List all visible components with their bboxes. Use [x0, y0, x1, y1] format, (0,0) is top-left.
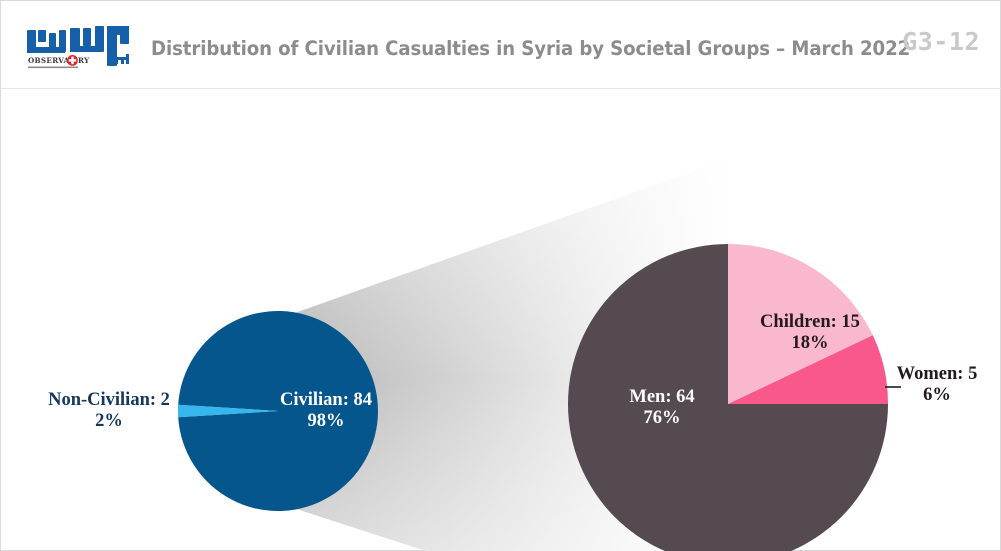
chart-canvas: OBSERVAT RY D	[0, 0, 1001, 551]
observatory-logo: OBSERVAT RY	[25, 23, 137, 73]
chart-header: OBSERVAT RY D	[1, 1, 1001, 89]
page-title: Distribution of Civilian Casualties in S…	[151, 37, 910, 60]
pie-left-total-casualties	[178, 311, 378, 511]
reference-code: G3-12	[902, 27, 980, 56]
pie-right-civilian-groups	[568, 244, 888, 551]
pie-of-pie-chart: Non-Civilian: 2 2% Civilian: 84 98% Men:…	[1, 89, 1001, 551]
svg-text:RY: RY	[78, 56, 90, 65]
red-cross-roundel	[67, 55, 78, 66]
